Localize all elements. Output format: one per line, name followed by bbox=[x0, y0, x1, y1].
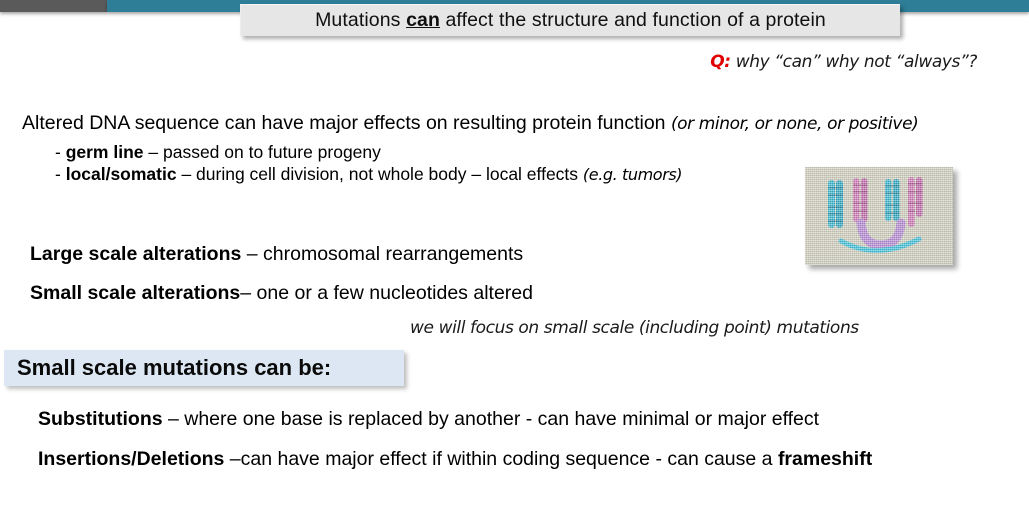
image-grain-overlay bbox=[805, 167, 953, 265]
slide-title-emphasis: can bbox=[406, 9, 440, 31]
main-statement-aside: (or minor, or none, or positive) bbox=[671, 114, 918, 134]
alteration-large-scale: Large scale alterations – chromosomal re… bbox=[30, 243, 523, 266]
bullet-germ-line-rest: – passed on to future progeny bbox=[144, 142, 381, 162]
main-statement-text: Altered DNA sequence can have major effe… bbox=[22, 112, 671, 134]
slide-title-before: Mutations bbox=[315, 9, 406, 31]
mutation-type-substitutions: Substitutions – where one base is replac… bbox=[38, 408, 819, 431]
alteration-large-scale-rest: – chromosomal rearrangements bbox=[241, 243, 523, 265]
alteration-small-scale-term: Small scale alterations bbox=[30, 282, 240, 304]
bullet-local-somatic: - local/somatic – during cell division, … bbox=[55, 164, 682, 185]
alteration-large-scale-term: Large scale alterations bbox=[30, 243, 241, 265]
mutation-type-substitutions-rest: – where one base is replaced by another … bbox=[163, 408, 820, 430]
main-statement: Altered DNA sequence can have major effe… bbox=[22, 112, 918, 135]
top-bar-gray-segment bbox=[0, 0, 107, 12]
bullet-germ-line-term: germ line bbox=[66, 142, 144, 162]
question-annotation-text: why “can” why not “always”? bbox=[731, 52, 977, 72]
bullet-local-somatic-dash: - bbox=[55, 164, 66, 184]
slide-title-banner: Mutations can affect the structure and f… bbox=[240, 4, 900, 36]
focus-annotation: we will focus on small scale (including … bbox=[410, 318, 859, 338]
mutation-type-indels-tail: frameshift bbox=[778, 448, 872, 470]
alteration-small-scale: Small scale alterations– one or a few nu… bbox=[30, 282, 533, 305]
small-scale-callout-text: Small scale mutations can be: bbox=[4, 355, 331, 381]
alteration-small-scale-rest: – one or a few nucleotides altered bbox=[240, 282, 533, 304]
bullet-germ-line: - germ line – passed on to future progen… bbox=[55, 142, 381, 163]
chromosomes-image bbox=[805, 167, 953, 265]
question-marker: Q: bbox=[710, 52, 730, 72]
small-scale-callout-box: Small scale mutations can be: bbox=[4, 350, 404, 386]
slide-title-after: affect the structure and function of a p… bbox=[440, 9, 826, 31]
bullet-germ-line-dash: - bbox=[55, 142, 66, 162]
bullet-local-somatic-aside: (e.g. tumors) bbox=[583, 165, 682, 184]
mutation-type-indels-rest: –can have major effect if within coding … bbox=[224, 448, 778, 470]
question-annotation: Q: why “can” why not “always”? bbox=[710, 52, 977, 72]
slide-title-text: Mutations can affect the structure and f… bbox=[315, 9, 826, 32]
mutation-type-indels: Insertions/Deletions –can have major eff… bbox=[38, 448, 872, 471]
bullet-local-somatic-term: local/somatic bbox=[66, 164, 177, 184]
mutation-type-indels-term: Insertions/Deletions bbox=[38, 448, 224, 470]
mutation-type-substitutions-term: Substitutions bbox=[38, 408, 163, 430]
bullet-local-somatic-rest: – during cell division, not whole body –… bbox=[177, 164, 583, 184]
